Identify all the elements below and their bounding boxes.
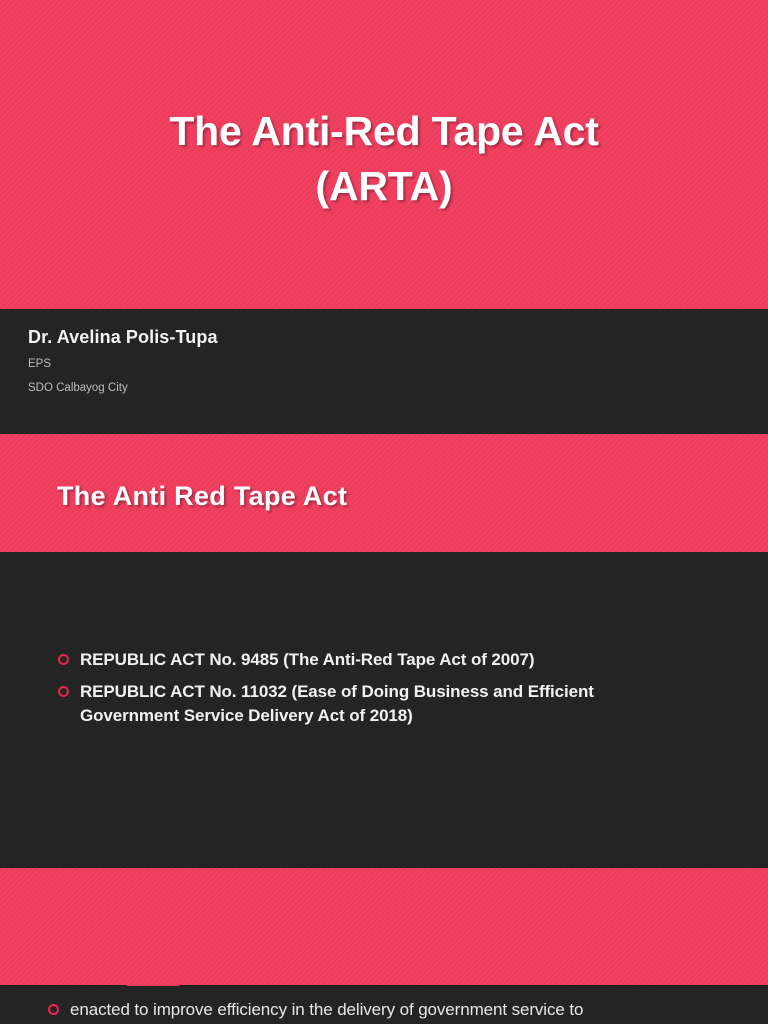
author-office: SDO Calbayog City — [28, 382, 128, 394]
author-position: EPS — [28, 358, 51, 370]
slide-heading: The Anti Red Tape Act — [57, 481, 347, 512]
slide-anti-red-tape-act: The Anti Red Tape Act REPUBLIC ACT No. 9… — [0, 434, 768, 868]
page-title-line-2: (ARTA) — [0, 159, 768, 214]
bullet-circle-icon — [48, 1004, 59, 1015]
list-item-label: REPUBLIC ACT No. 9485 (The Anti-Red Tape… — [80, 648, 668, 672]
author-name: Dr. Avelina Polis-Tupa — [28, 327, 218, 348]
bullet-list: enacted to improve efficiency in the del… — [48, 998, 738, 1024]
list-item-label: REPUBLIC ACT No. 11032 (Ease of Doing Bu… — [80, 680, 668, 728]
presentation-deck: The Anti-Red Tape Act (ARTA) Dr. Avelina… — [0, 0, 768, 1024]
page-title: The Anti-Red Tape Act (ARTA) — [0, 104, 768, 214]
slide-body: enacted to improve efficiency in the del… — [0, 986, 768, 1024]
bullet-circle-icon — [58, 654, 69, 665]
slide-arta-purpose: enacted to improve efficiency in the del… — [0, 868, 768, 1024]
slide-header-banner — [0, 868, 768, 985]
slide-body: REPUBLIC ACT No. 9485 (The Anti-Red Tape… — [0, 552, 768, 868]
title-banner: The Anti-Red Tape Act (ARTA) — [0, 0, 768, 309]
bullet-list: REPUBLIC ACT No. 9485 (The Anti-Red Tape… — [58, 648, 668, 736]
page-title-line-1: The Anti-Red Tape Act — [0, 104, 768, 159]
list-item-label: enacted to improve efficiency in the del… — [70, 998, 738, 1022]
slide-title: The Anti-Red Tape Act (ARTA) Dr. Avelina… — [0, 0, 768, 434]
author-block: Dr. Avelina Polis-Tupa EPS SDO Calbayog … — [0, 309, 768, 434]
list-item: enacted to improve efficiency in the del… — [48, 998, 738, 1022]
slide-header-banner: The Anti Red Tape Act — [0, 434, 768, 552]
list-item: REPUBLIC ACT No. 9485 (The Anti-Red Tape… — [58, 648, 668, 672]
list-item: REPUBLIC ACT No. 11032 (Ease of Doing Bu… — [58, 680, 668, 728]
bullet-circle-icon — [58, 686, 69, 697]
